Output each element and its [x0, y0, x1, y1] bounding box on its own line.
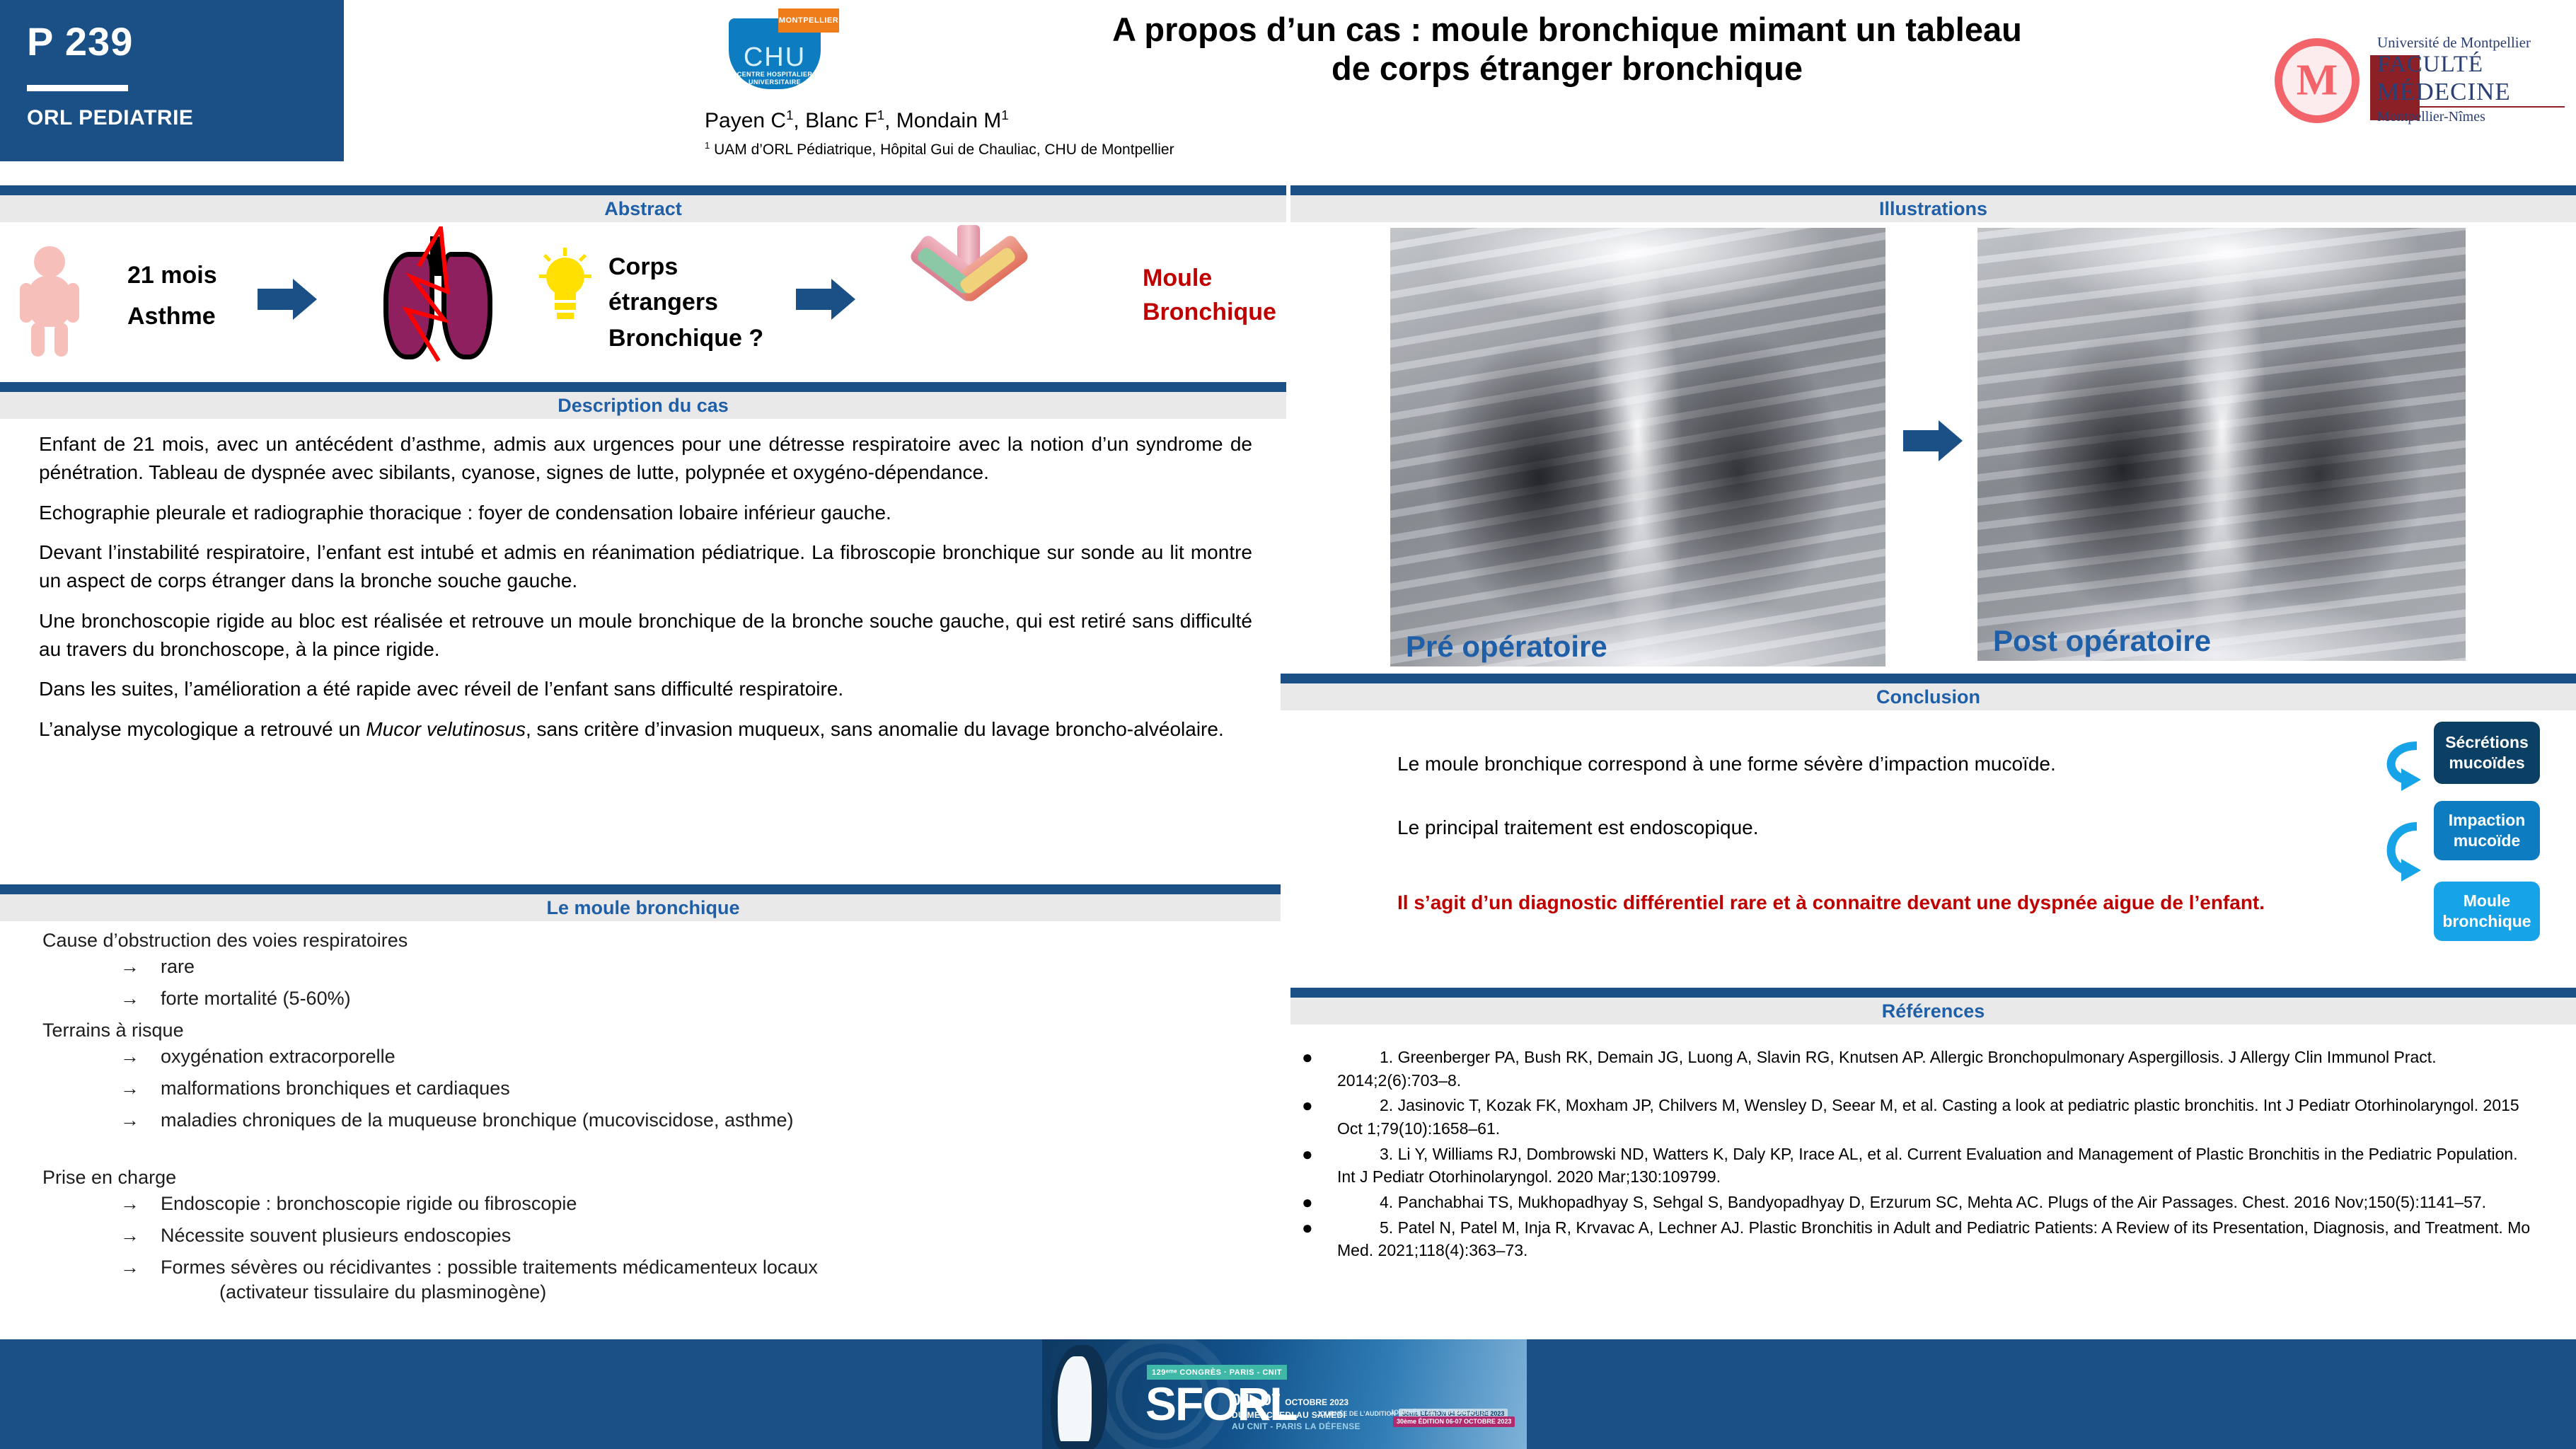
abstract-section-bar — [0, 185, 1286, 195]
divider — [27, 85, 128, 91]
abstract-result-label: Moule Bronchique — [1143, 262, 1277, 329]
conclusion-section-title: Conclusion — [1281, 683, 2576, 710]
description-paragraph: Dans les suites, l’amélioration a été ra… — [39, 675, 1252, 703]
conclusion-line1: Le moule bronchique correspond à une for… — [1397, 753, 2282, 775]
reference-number: 1. — [1380, 1048, 1393, 1066]
arrow-right-icon: → — [120, 1193, 139, 1215]
chest-xray-preoperative: Pré opératoire — [1390, 228, 1885, 666]
description-text-body: Enfant de 21 mois, avec un antécédent d’… — [39, 430, 1252, 756]
bullet-icon: ● — [1302, 1215, 1313, 1241]
chu-montpellier-logo: MONTPELLIER CHU CENTRE HOSPITALIER UNIVE… — [716, 6, 843, 91]
chu-logo-sub1: CENTRE HOSPITALIER — [729, 71, 821, 78]
infirmiers-badge-chip: 30ème ÉDITION 06-07 OCTOBRE 2023 — [1393, 1416, 1515, 1427]
audition-badge-label: JOURNÉE DE L’AUDITION — [1317, 1410, 1396, 1417]
list-item: → forte mortalité (5-60%) — [120, 988, 1273, 1010]
moule-bronchique-content: Cause d’obstruction des voies respiratoi… — [42, 928, 1273, 1303]
description-paragraph: Echographie pleurale et radiographie tho… — [39, 499, 1252, 527]
dates-month: OCTOBRE 2023 — [1285, 1397, 1348, 1407]
list-item-label: rare — [161, 956, 195, 978]
list-item: ● 5. Patel N, Patel M, Inja R, Krvavac A… — [1337, 1216, 2540, 1262]
conclusion-highlight: Il s’agit d’un diagnostic différentiel r… — [1397, 889, 2282, 917]
moule-group2-title: Terrains à risque — [42, 1020, 1273, 1041]
arrow-right-icon: → — [120, 988, 139, 1010]
bronchial-tree-cast-icon — [895, 225, 1044, 364]
description-paragraph: Enfant de 21 mois, avec un antécédent d’… — [39, 430, 1252, 487]
reference-number: 5. — [1380, 1218, 1393, 1237]
flow-arrow-right-icon — [258, 279, 318, 320]
arrow-right-icon: → — [120, 1257, 139, 1278]
list-item-label: Formes sévères ou récidivantes : possibl… — [161, 1257, 818, 1278]
poster-header: P 239 ORL PEDIATRIE MONTPELLIER CHU CENT… — [0, 0, 2576, 161]
arrow-right-icon: → — [120, 1078, 139, 1099]
list-item: ● 3. Li Y, Williams RJ, Dombrowski ND, W… — [1337, 1143, 2540, 1189]
chest-xray-postoperative: Post opératoire — [1977, 228, 2466, 661]
poster-id-block: P 239 ORL PEDIATRIE — [0, 0, 344, 161]
references-section-title: Références — [1290, 998, 2576, 1024]
arrow-right-icon: → — [120, 1109, 139, 1131]
arrow-right-icon: → — [120, 1046, 139, 1068]
reference-text: Patel N, Patel M, Inja R, Krvavac A, Lec… — [1337, 1218, 2530, 1260]
list-item: ● 1. Greenberger PA, Bush RK, Demain JG,… — [1337, 1046, 2540, 1092]
reference-number: 2. — [1380, 1096, 1393, 1114]
moule-section-bar — [0, 884, 1286, 894]
illustrations-section-bar — [1290, 185, 2576, 195]
xray-image — [1390, 228, 1885, 666]
um-line-cities: Montpellier-Nîmes — [2377, 106, 2565, 125]
abstract-age-label: 21 mois — [127, 262, 217, 289]
list-item-label: forte mortalité (5-60%) — [161, 988, 351, 1010]
reference-text: Panchabhai TS, Mukhopadhyay S, Sehgal S,… — [1398, 1193, 2487, 1211]
curved-arrow-down-icon-2 — [2377, 819, 2427, 894]
references-list: ● 1. Greenberger PA, Bush RK, Demain JG,… — [1337, 1046, 2540, 1264]
flow-box-impaction-mucoide: Impaction mucoïde — [2434, 801, 2540, 860]
list-item-label: Endoscopie : bronchoscopie rigide ou fib… — [161, 1193, 577, 1215]
infirmiers-badge-label: JOURNÉES DES INFIRMIER(E)S — [1390, 1409, 1487, 1416]
mycology-post: , sans critère d’invasion muqueux, sans … — [526, 718, 1224, 740]
references-section-bar — [1290, 988, 2576, 998]
bullet-icon: ● — [1302, 1189, 1313, 1216]
list-item-label: malformations bronchiques et cardiaques — [161, 1078, 510, 1099]
flow-arrow-right-icon-2 — [796, 279, 857, 320]
list-item: → Formes sévères ou récidivantes : possi… — [120, 1257, 1273, 1278]
moule-section-title: Le moule bronchique — [0, 894, 1286, 921]
description-section-title: Description du cas — [0, 392, 1286, 419]
infant-icon — [23, 246, 76, 356]
moule-group1-title: Cause d’obstruction des voies respiratoi… — [42, 930, 1273, 952]
description-paragraph-mycology: L’analyse mycologique a retrouvé un Muco… — [39, 715, 1252, 744]
description-paragraph: Devant l’instabilité respiratoire, l’enf… — [39, 538, 1252, 595]
universite-montpellier-seal-icon: M — [2275, 38, 2360, 123]
congress-venue: AU CNIT - PARIS LA DÉFENSE — [1232, 1421, 1361, 1431]
reference-number: 3. — [1380, 1145, 1393, 1163]
list-item: → Nécessite souvent plusieurs endoscopie… — [120, 1225, 1273, 1247]
poster-footer: 129ᵉᵐᵉ CONGRÈS · PARIS - CNIT SFORL 04▶0… — [0, 1339, 2576, 1449]
bullet-icon: ● — [1302, 1092, 1313, 1119]
chu-logo-word: CHU — [729, 42, 821, 73]
affiliation-note: 1 UAM d’ORL Pédiatrique, Hôpital Gui de … — [705, 140, 1174, 158]
curved-arrow-down-icon-1 — [2377, 739, 2427, 813]
abstract-question-label: Corps étrangers Bronchique ? — [608, 249, 763, 356]
list-item: → malformations bronchiques et cardiaque… — [120, 1078, 1273, 1099]
faculte-medecine-logo: Université de Montpellier FACULTÉ MÉDECI… — [2377, 34, 2565, 125]
list-item: → maladies chroniques de la muqueuse bro… — [120, 1109, 1273, 1131]
description-paragraph: Une bronchoscopie rigide au bloc est réa… — [39, 607, 1252, 664]
poster-theme-label: ORL PEDIATRIE — [27, 106, 193, 130]
reference-text: Li Y, Williams RJ, Dombrowski ND, Watter… — [1337, 1145, 2518, 1187]
sforl-congress-banner: 129ᵉᵐᵉ CONGRÈS · PARIS - CNIT SFORL 04▶0… — [1042, 1339, 1527, 1449]
lightning-bolt-icon — [368, 226, 509, 375]
lungs-with-lightning-icon — [368, 226, 509, 368]
abstract-section-title: Abstract — [0, 195, 1286, 222]
profile-silhouette-highlight — [1058, 1356, 1092, 1441]
illustrations-section-title: Illustrations — [1290, 195, 2576, 222]
arrow-right-icon: → — [120, 956, 139, 978]
author-list: Payen C1, Blanc F1, Mondain M1 — [705, 108, 1009, 133]
poster-title-line1: A propos d’un cas : moule bronchique mim… — [920, 10, 2214, 49]
mycology-pre: L’analyse mycologique a retrouvé un — [39, 718, 366, 740]
list-item: → Endoscopie : bronchoscopie rigide ou f… — [120, 1193, 1273, 1215]
list-item: → oxygénation extracorporelle — [120, 1046, 1273, 1068]
poster-title-line2: de corps étranger bronchique — [920, 49, 2214, 88]
question-line3: Bronchique ? — [608, 321, 763, 356]
flow-box-secretions-mucoides: Sécrétions mucoïdes — [2434, 722, 2540, 784]
bullet-icon: ● — [1302, 1141, 1313, 1167]
list-item-continuation: (activateur tissulaire du plasminogène) — [219, 1281, 1273, 1303]
question-line1: Corps — [608, 249, 763, 284]
chu-logo-city-label: MONTPELLIER — [778, 8, 839, 33]
xray-pre-caption: Pré opératoire — [1406, 630, 1607, 664]
page-title: P 239 — [27, 18, 133, 64]
flow-arrow-right-icon-3 — [1903, 420, 1964, 461]
congress-dates: 04▶07 OCTOBRE 2023 — [1232, 1390, 1348, 1409]
conclusion-section-bar — [1281, 674, 2576, 683]
chu-logo-sub2: UNIVERSITAIRE — [729, 79, 821, 86]
reference-text: Jasinovic T, Kozak FK, Moxham JP, Chilve… — [1337, 1096, 2519, 1138]
list-item: ● 2. Jasinovic T, Kozak FK, Moxham JP, C… — [1337, 1094, 2540, 1140]
list-item-label: Nécessite souvent plusieurs endoscopies — [161, 1225, 511, 1247]
moule-group3-title: Prise en charge — [42, 1167, 1273, 1189]
reference-text: Greenberger PA, Bush RK, Demain JG, Luon… — [1337, 1048, 2437, 1090]
list-item: ● 4. Panchabhai TS, Mukhopadhyay S, Sehg… — [1337, 1191, 2540, 1214]
um-line-university: Université de Montpellier — [2377, 34, 2565, 52]
lightbulb-idea-icon — [538, 248, 593, 324]
um-line-faculte: FACULTÉ — [2377, 52, 2565, 78]
poster-title: A propos d’un cas : moule bronchique mim… — [920, 10, 2214, 88]
list-item: → rare — [120, 956, 1273, 978]
conclusion-line2: Le principal traitement est endoscopique… — [1397, 816, 2282, 839]
um-line-medecine: MÉDECINE — [2377, 78, 2565, 106]
conclusion-text: Le moule bronchique correspond à une for… — [1397, 753, 2282, 917]
question-line2: étrangers — [608, 284, 763, 320]
xray-image — [1977, 228, 2466, 661]
flow-box-moule-bronchique: Moule bronchique — [2434, 882, 2540, 941]
list-item-label: maladies chroniques de la muqueuse bronc… — [161, 1109, 793, 1131]
reference-number: 4. — [1380, 1193, 1393, 1211]
result-line2: Bronchique — [1143, 296, 1277, 330]
arrow-right-icon: → — [120, 1225, 139, 1247]
list-item-label: oxygénation extracorporelle — [161, 1046, 395, 1068]
infirmiers-badge: JOURNÉES DES INFIRMIER(E)S30ème ÉDITION … — [1390, 1409, 1527, 1427]
description-section-bar — [0, 382, 1286, 392]
seal-letter: M — [2297, 56, 2338, 106]
result-line1: Moule — [1143, 262, 1277, 296]
abstract-condition-label: Asthme — [127, 303, 216, 330]
dates-range: 04▶07 — [1232, 1390, 1281, 1409]
mycology-species: Mucor velutinosus — [366, 718, 526, 740]
xray-post-caption: Post opératoire — [1993, 624, 2211, 658]
bullet-icon: ● — [1302, 1044, 1313, 1070]
